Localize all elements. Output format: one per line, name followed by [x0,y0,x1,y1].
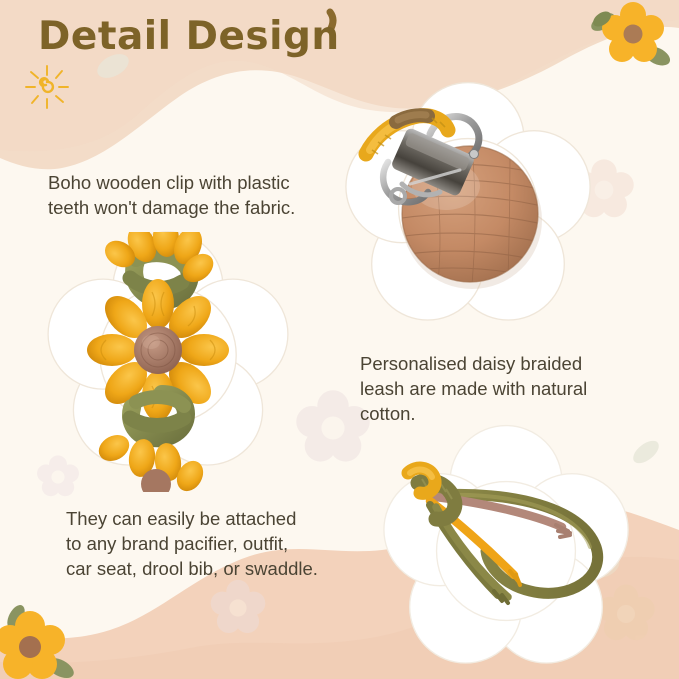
caption-attachment: They can easily be attached to any brand… [66,506,371,581]
caption-daisy-leash: Personalised daisy braided leash are mad… [360,351,635,426]
flower-center [624,25,643,44]
infographic-canvas: Detail Design Boho wooden clip with plas… [0,0,679,679]
page-title: Detail Design [38,14,340,59]
sun-icon [26,66,68,108]
flower-top-right [588,2,673,69]
flower-center [19,636,41,658]
flower-bottom-left [0,602,77,679]
caption-wooden-clip: Boho wooden clip with plastic teeth won'… [48,170,353,220]
